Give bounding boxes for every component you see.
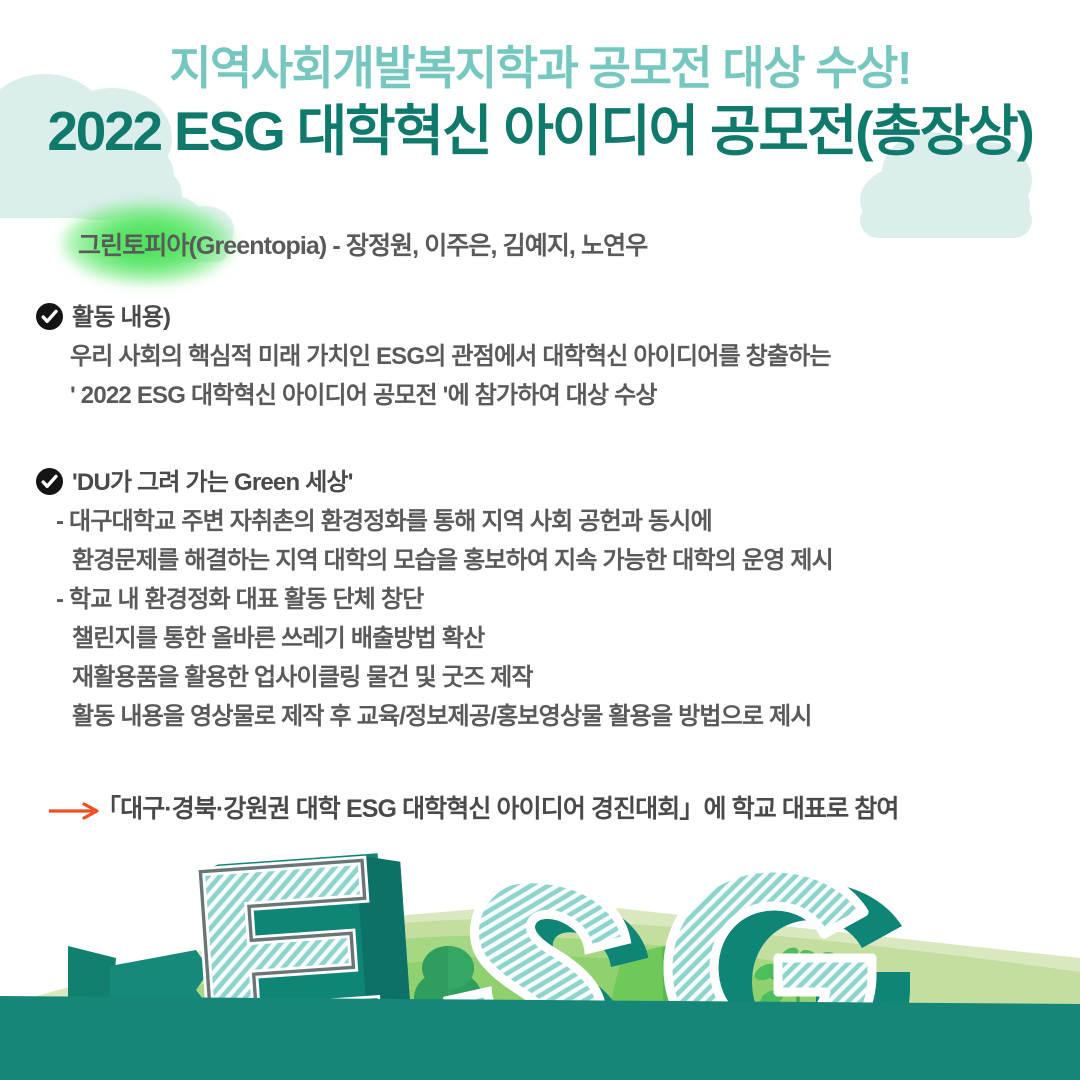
check-circle-icon: [36, 468, 63, 495]
section-1-heading-label: 활동 내용): [72, 304, 170, 331]
team-name-and-members: 그린토피아(Greentopia) - 장정원, 이주은, 김예지, 노연우: [78, 226, 647, 262]
page-title: 지역사회개발복지학과 공모전 대상 수상! 2022 ESG 대학혁신 아이디어…: [0, 40, 1080, 165]
title-mainline: 2022 ESG 대학혁신 아이디어 공모전(총장상): [0, 98, 1080, 165]
right-arrow-icon: [48, 802, 100, 820]
section-1-line-1: 우리 사회의 핵심적 미래 가치인 ESG의 관점에서 대학혁신 아이디어를 창…: [0, 337, 1080, 376]
poster-canvas: 지역사회개발복지학과 공모전 대상 수상! 2022 ESG 대학혁신 아이디어…: [0, 0, 1080, 1080]
section-2-line-1: - 대구대학교 주변 자취촌의 환경정화를 통해 지역 사회 공헌과 동시에: [0, 502, 1080, 541]
section-2-heading-row: 'DU가 그려 가는 Green 세상': [0, 463, 1080, 502]
section-2-line-6: 활동 내용을 영상물로 제작 후 교육/정보제공/홍보영상물 활용을 방법으로 …: [0, 697, 1080, 736]
section-2-line-4: 챌린지를 통한 올바른 쓰레기 배출방법 확산: [0, 619, 1080, 658]
section-du-green-world: 'DU가 그려 가는 Green 세상' - 대구대학교 주변 자취촌의 환경정…: [0, 463, 1080, 736]
section-1-line-2: ' 2022 ESG 대학혁신 아이디어 공모전 '에 참가하여 대상 수상: [0, 376, 1080, 415]
footer-note-label: 「대구·경북·강원권 대학 ESG 대학혁신 아이디어 경진대회」에 학교 대표…: [96, 789, 898, 829]
esg-illustration: [0, 838, 1080, 1080]
section-2-line-2: 환경문제를 해결하는 지역 대학의 모습을 홍보하여 지속 가능한 대학의 운영…: [0, 541, 1080, 580]
section-2-heading-label: 'DU가 그려 가는 Green 세상': [72, 469, 353, 496]
section-activity-content: 활동 내용) 우리 사회의 핵심적 미래 가치인 ESG의 관점에서 대학혁신 …: [0, 298, 1080, 415]
title-subline: 지역사회개발복지학과 공모전 대상 수상!: [0, 40, 1080, 96]
check-circle-icon: [36, 303, 63, 330]
section-2-line-3: - 학교 내 환경정화 대표 활동 단체 창단: [0, 580, 1080, 619]
footer-participation-note: 「대구·경북·강원권 대학 ESG 대학혁신 아이디어 경진대회」에 학교 대표…: [0, 789, 1080, 833]
section-2-line-5: 재활용품을 활용한 업사이클링 물건 및 굿즈 제작: [0, 658, 1080, 697]
section-1-heading-row: 활동 내용): [0, 298, 1080, 337]
